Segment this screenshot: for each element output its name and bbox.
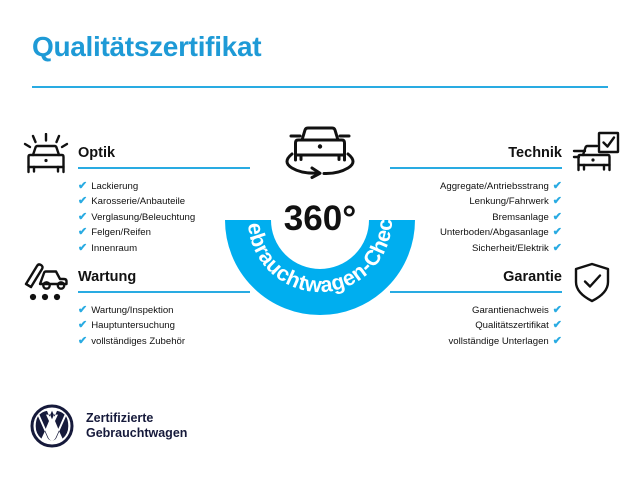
footer-brand-text: Zertifizierte Gebrauchtwagen — [86, 411, 187, 441]
service-pen-car-icon — [22, 261, 70, 305]
check-icon: ✔ — [553, 303, 562, 319]
car-shine-icon — [22, 133, 70, 177]
check-icon: ✔ — [553, 241, 562, 257]
check-icon: ✔ — [78, 303, 87, 319]
check-icon: ✔ — [553, 194, 562, 210]
footer-brand: Zertifizierte Gebrauchtwagen — [30, 404, 187, 448]
list-item-label: Lackierung — [91, 181, 138, 192]
check-icon: ✔ — [553, 225, 562, 241]
check-icon: ✔ — [78, 210, 87, 226]
list-item-label: Sicherheit/Elektrik — [472, 243, 549, 254]
gebrauchtwagen-check-badge: Gebrauchtwagen-Check 360° — [222, 122, 418, 318]
check-icon: ✔ — [78, 241, 87, 257]
shield-check-icon — [568, 261, 616, 305]
list-item-label: Karosserie/Anbauteile — [91, 196, 185, 207]
car-rotate-360-icon — [274, 118, 366, 180]
badge-center-label: 360° — [284, 199, 356, 238]
list-item-label: Lenkung/Fahrwerk — [469, 196, 548, 207]
list-item-label: Verglasung/Beleuchtung — [91, 212, 195, 223]
footer-line-2: Gebrauchtwagen — [86, 426, 187, 441]
list-item: ✔vollständiges Zubehör — [78, 334, 250, 350]
check-icon: ✔ — [553, 334, 562, 350]
check-icon: ✔ — [78, 225, 87, 241]
list-item-label: Aggregate/Antriebsstrang — [440, 181, 549, 192]
list-item-label: Garantienachweis — [472, 305, 549, 316]
check-icon: ✔ — [78, 194, 87, 210]
check-icon: ✔ — [78, 318, 87, 334]
page-title: Qualitätszertifikat — [32, 32, 261, 63]
check-icon: ✔ — [553, 210, 562, 226]
list-item-label: Hauptuntersuchung — [91, 320, 175, 331]
list-item-label: vollständige Unterlagen — [449, 336, 549, 347]
check-icon: ✔ — [78, 334, 87, 350]
list-item-label: Wartung/Inspektion — [91, 305, 173, 316]
list-item-label: Unterboden/Abgasanlage — [440, 227, 549, 238]
list-item: ✔Hauptuntersuchung — [78, 318, 250, 334]
check-icon: ✔ — [553, 179, 562, 195]
quality-certificate-page: Qualitätszertifikat — [0, 0, 640, 480]
check-icon: ✔ — [78, 179, 87, 195]
list-item-label: Bremsanlage — [492, 212, 549, 223]
footer-line-1: Zertifizierte — [86, 411, 187, 426]
list-item-label: Felgen/Reifen — [91, 227, 151, 238]
volkswagen-logo — [30, 404, 74, 448]
list-item-label: vollständiges Zubehör — [91, 336, 185, 347]
list-item: Qualitätszertifikat✔ — [390, 318, 562, 334]
list-item: vollständige Unterlagen✔ — [390, 334, 562, 350]
car-checkbox-icon — [572, 131, 620, 175]
title-divider — [32, 86, 608, 88]
list-item-label: Qualitätszertifikat — [475, 320, 549, 331]
list-item-label: Innenraum — [91, 243, 137, 254]
check-icon: ✔ — [553, 318, 562, 334]
